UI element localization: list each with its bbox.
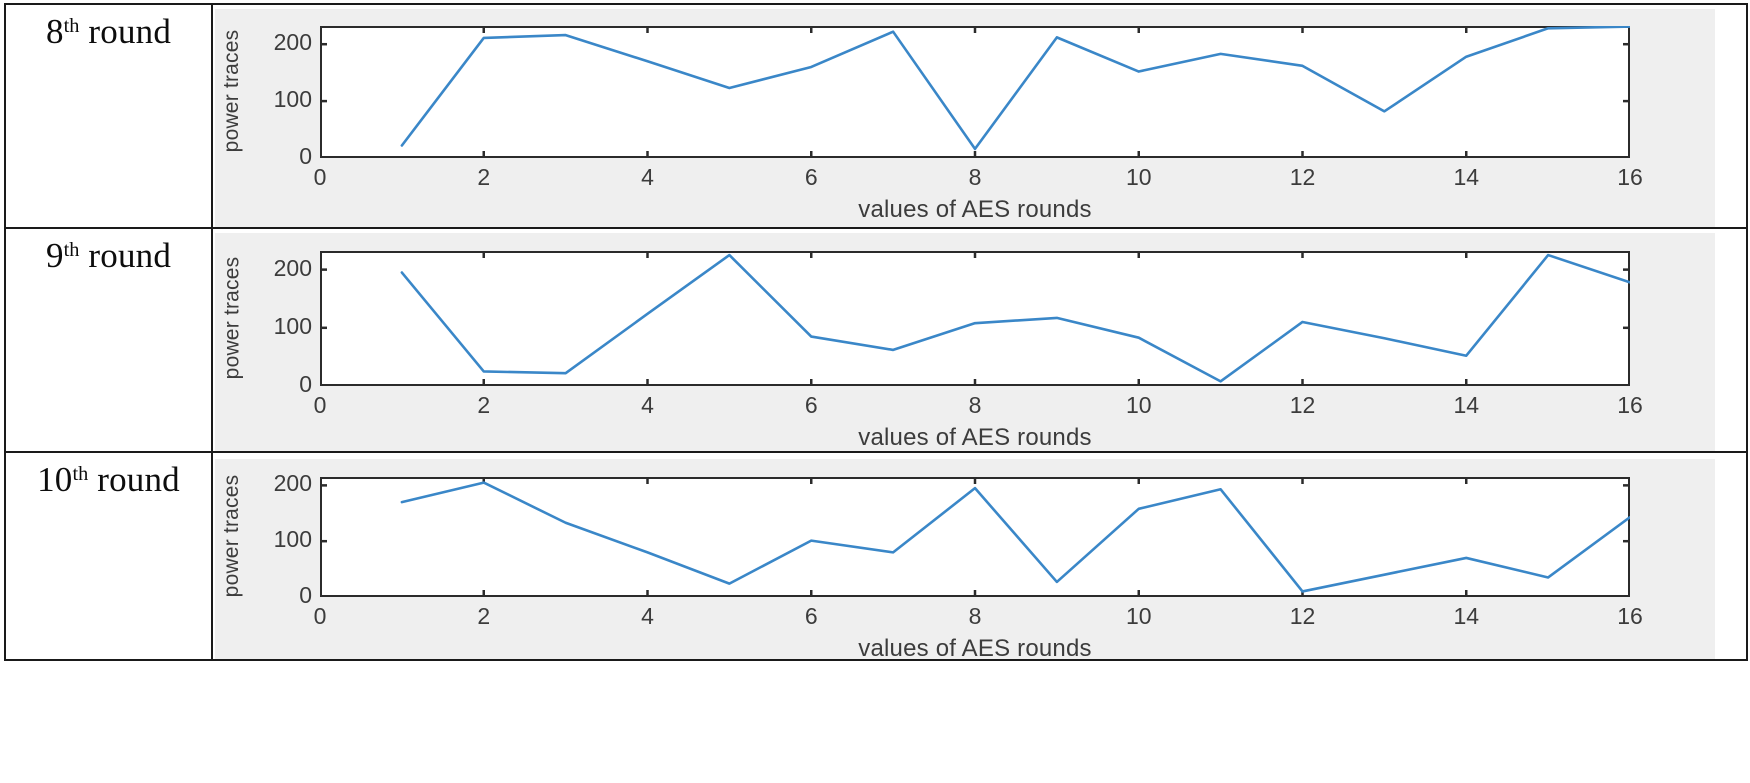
matlab-figure-8th-round: 01002000246810121416power tracesvalues o… [215, 9, 1715, 227]
y-tick-label: 200 [250, 255, 312, 282]
x-axis-label: values of AES rounds [320, 635, 1630, 663]
x-tick-label: 0 [290, 392, 350, 419]
matlab-figure-9th-round: 01002000246810121416power tracesvalues o… [215, 233, 1715, 451]
chart-cell-10: 01002000246810121416power tracesvalues o… [212, 452, 1747, 660]
y-tick-label: 100 [250, 526, 312, 553]
x-tick-label: 8 [945, 392, 1005, 419]
x-tick-label: 6 [781, 164, 841, 191]
y-axis-label: power traces [220, 230, 244, 405]
round-label-9: 9th round [6, 229, 211, 273]
x-tick-label: 8 [945, 164, 1005, 191]
axis-ticks [320, 477, 1630, 597]
y-axis-label: power traces [220, 5, 244, 177]
x-tick-label: 4 [618, 392, 678, 419]
x-tick-label: 14 [1436, 164, 1496, 191]
round-number: 10 [37, 460, 72, 499]
figure-table-container: 8th round 01002000246810121416power trac… [0, 3, 1750, 783]
round-ordinal-suffix: th [64, 15, 80, 37]
chart-cell-9: 01002000246810121416power tracesvalues o… [212, 228, 1747, 452]
table-row: 8th round 01002000246810121416power trac… [5, 4, 1747, 228]
axis-ticks [320, 26, 1630, 158]
aes-rounds-table: 8th round 01002000246810121416power trac… [4, 3, 1748, 661]
x-tick-label: 14 [1436, 603, 1496, 630]
x-tick-label: 10 [1109, 392, 1169, 419]
x-tick-label: 10 [1109, 164, 1169, 191]
table-row: 10th round 01002000246810121416power tra… [5, 452, 1747, 660]
round-number: 9 [46, 236, 64, 275]
round-word: round [88, 460, 180, 499]
table-body: 8th round 01002000246810121416power trac… [5, 4, 1747, 660]
x-tick-label: 12 [1273, 164, 1333, 191]
round-ordinal-suffix: th [64, 239, 80, 261]
round-ordinal-suffix: th [73, 463, 89, 485]
round-word: round [79, 12, 171, 51]
y-tick-label: 100 [250, 313, 312, 340]
matlab-figure-10th-round: 01002000246810121416power tracesvalues o… [215, 459, 1715, 659]
round-label-cell-9: 9th round [5, 228, 212, 452]
x-tick-label: 2 [454, 392, 514, 419]
data-line-series [402, 27, 1630, 149]
round-word: round [79, 236, 171, 275]
x-axis-label: values of AES rounds [320, 196, 1630, 224]
x-axis-label: values of AES rounds [320, 424, 1630, 452]
round-label-cell-8: 8th round [5, 4, 212, 228]
round-label-8: 8th round [6, 5, 211, 49]
table-row: 9th round 01002000246810121416power trac… [5, 228, 1747, 452]
x-tick-label: 12 [1273, 392, 1333, 419]
x-tick-label: 16 [1600, 392, 1660, 419]
chart-svg [215, 9, 1715, 227]
x-tick-label: 4 [618, 164, 678, 191]
data-line-series [402, 255, 1630, 381]
round-label-10: 10th round [6, 453, 211, 497]
x-tick-label: 0 [290, 164, 350, 191]
x-tick-label: 16 [1600, 603, 1660, 630]
data-line-series [402, 483, 1630, 592]
x-tick-label: 0 [290, 603, 350, 630]
x-tick-label: 10 [1109, 603, 1169, 630]
x-tick-label: 4 [618, 603, 678, 630]
axis-ticks [320, 251, 1630, 386]
x-tick-label: 14 [1436, 392, 1496, 419]
x-tick-label: 12 [1273, 603, 1333, 630]
round-label-cell-10: 10th round [5, 452, 212, 660]
y-axis-label: power traces [220, 456, 244, 616]
y-tick-label: 200 [250, 29, 312, 56]
y-tick-label: 100 [250, 86, 312, 113]
chart-cell-8: 01002000246810121416power tracesvalues o… [212, 4, 1747, 228]
round-number: 8 [46, 12, 64, 51]
x-tick-label: 6 [781, 603, 841, 630]
x-tick-label: 6 [781, 392, 841, 419]
x-tick-label: 16 [1600, 164, 1660, 191]
y-tick-label: 200 [250, 470, 312, 497]
x-tick-label: 2 [454, 164, 514, 191]
x-tick-label: 2 [454, 603, 514, 630]
x-tick-label: 8 [945, 603, 1005, 630]
